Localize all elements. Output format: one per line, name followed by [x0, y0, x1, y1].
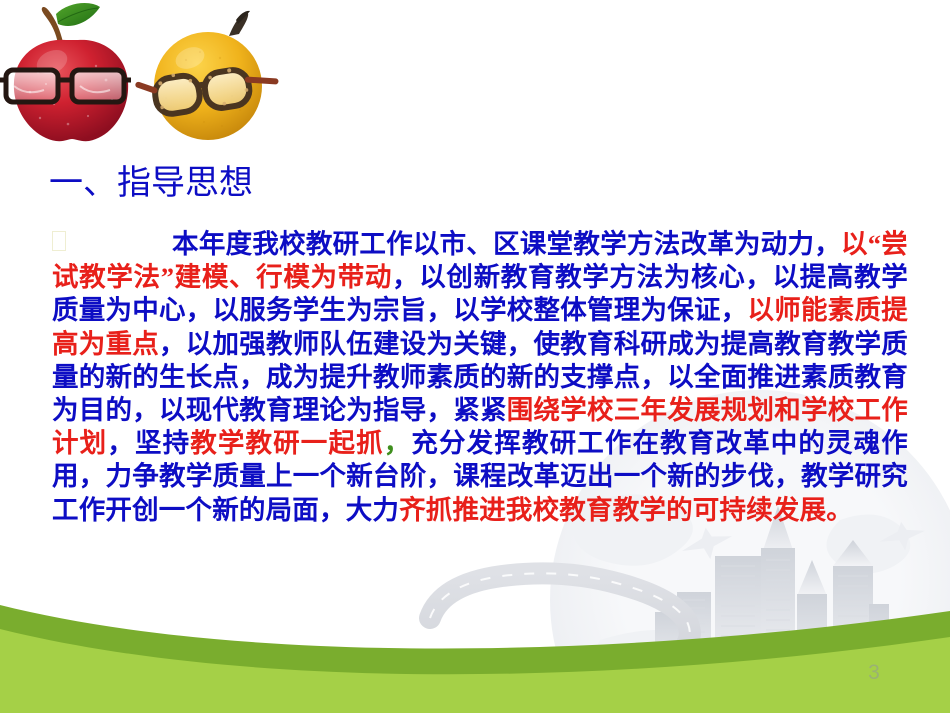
bullet-glyph [52, 231, 66, 251]
building-window-lines [683, 560, 868, 656]
body-run-9: ， [384, 428, 412, 458]
page-title: 一、指导思想 [49, 164, 253, 204]
fruit-illustration-group [0, 0, 300, 150]
city-skyline-watermark-shape [655, 506, 889, 684]
body-run-1: 本年度我校教研工作以市、区课堂教学方法改革为动力， [172, 229, 841, 259]
page-number: 3 [862, 661, 886, 685]
apple-with-glasses-image [0, 3, 131, 141]
orange-with-glasses-image [137, 11, 278, 140]
bottom-green-wave-decoration [0, 573, 950, 713]
body-run-11: 齐抓推进我校教育教学的可持续发展。 [399, 495, 853, 525]
slide-canvas: 一、指导思想 本年度我校教研工作以市、区课堂教学方法改革为动力，以“尝试教学法”… [0, 0, 950, 713]
body-paragraph: 本年度我校教研工作以市、区课堂教学方法改革为动力，以“尝试教学法”建模、行模为带… [52, 228, 908, 527]
body-run-8: 教学教研一起抓 [190, 428, 384, 458]
body-run-7: ，坚持 [107, 428, 190, 458]
winding-road-watermark-shape [430, 573, 690, 713]
